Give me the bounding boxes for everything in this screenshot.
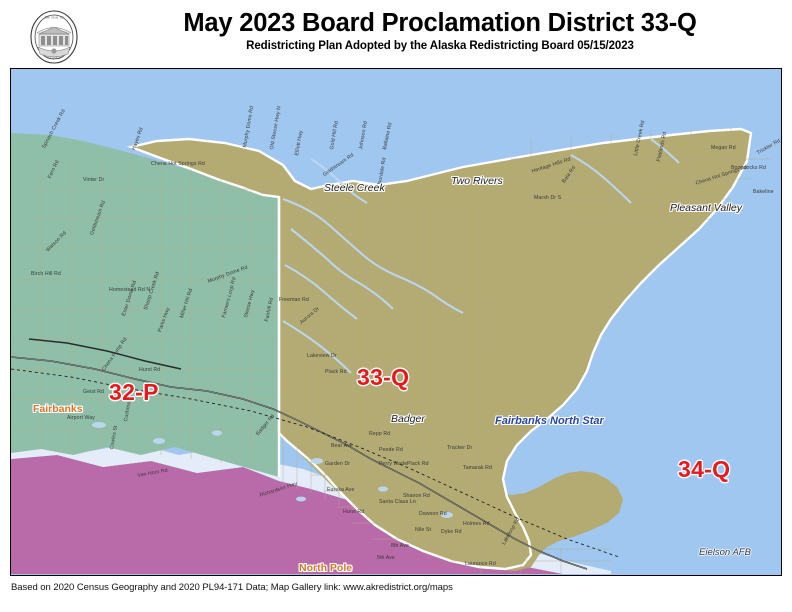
svg-text:ALASKA: ALASKA [48, 56, 62, 60]
header-titles: May 2023 Board Proclamation District 33-… [110, 8, 770, 54]
map-frame[interactable]: Spinach Creek RdFern RdVinter DrChena Ho… [10, 68, 782, 576]
page-subtitle: Redistricting Plan Adopted by the Alaska… [110, 39, 770, 54]
map-geometry [11, 69, 780, 574]
page-title: May 2023 Board Proclamation District 33-… [110, 8, 770, 38]
map-page: ALASKA THE SEAL OF May 2023 Board Procla… [0, 0, 792, 612]
district-label-35-r: 35-R [133, 574, 184, 576]
map-header: ALASKA THE SEAL OF May 2023 Board Procla… [0, 0, 792, 66]
svg-text:THE SEAL OF: THE SEAL OF [44, 16, 64, 20]
alaska-state-seal-icon: ALASKA THE SEAL OF [24, 9, 84, 65]
map-footer-credit: Based on 2020 Census Geography and 2020 … [11, 582, 781, 593]
